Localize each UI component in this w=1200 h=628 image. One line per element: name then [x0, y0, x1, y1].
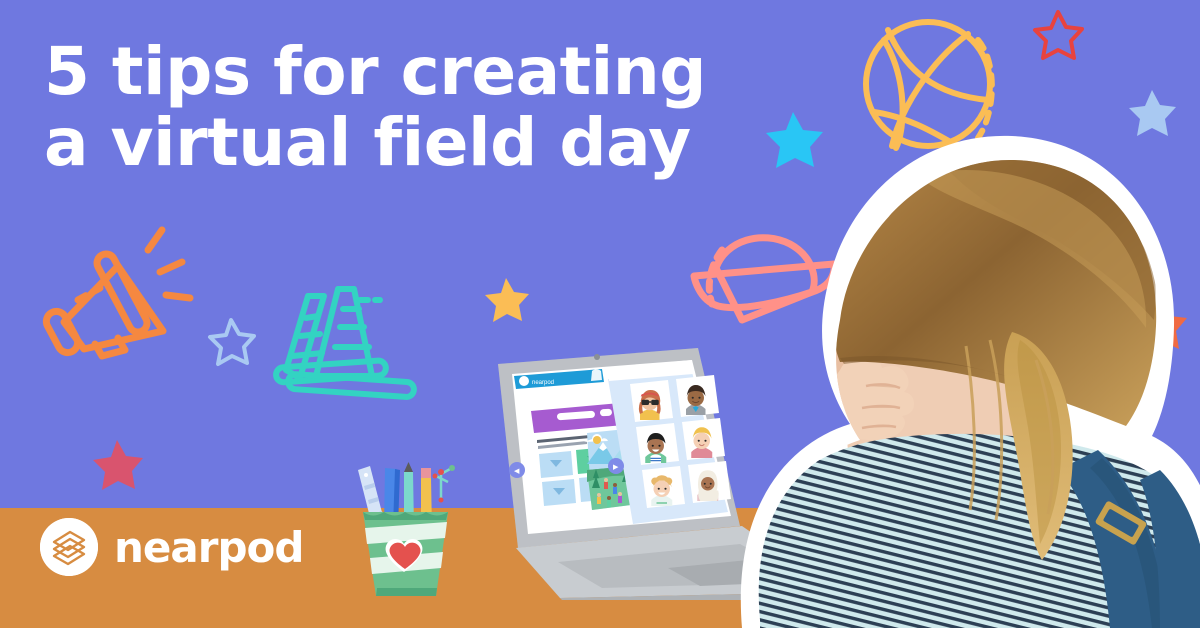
poster-canvas: 5 tips for creating a virtual field day … [0, 0, 1200, 628]
student-photo [690, 40, 1200, 628]
megaphone-icon [43, 230, 190, 356]
nearpod-logo-icon [519, 376, 529, 386]
page-title: 5 tips for creating a virtual field day [44, 36, 764, 179]
student-card-1[interactable] [630, 380, 673, 422]
svg-text:◀: ◀ [514, 468, 520, 475]
traffic-cones-icon [276, 289, 415, 397]
svg-text:▶: ▶ [613, 464, 619, 471]
photo-content [730, 150, 1200, 628]
screen-logo-text: nearpod [532, 380, 554, 386]
star-yellow-icon [485, 278, 529, 322]
student-card-5[interactable] [642, 466, 685, 508]
stacked-layers-icon [40, 518, 98, 576]
star-outline-blue-icon [210, 320, 254, 364]
star-rose-icon [93, 440, 143, 490]
student-card-3[interactable] [636, 423, 679, 465]
nearpod-logo[interactable]: nearpod [40, 518, 303, 576]
nearpod-wordmark: nearpod [114, 523, 303, 572]
